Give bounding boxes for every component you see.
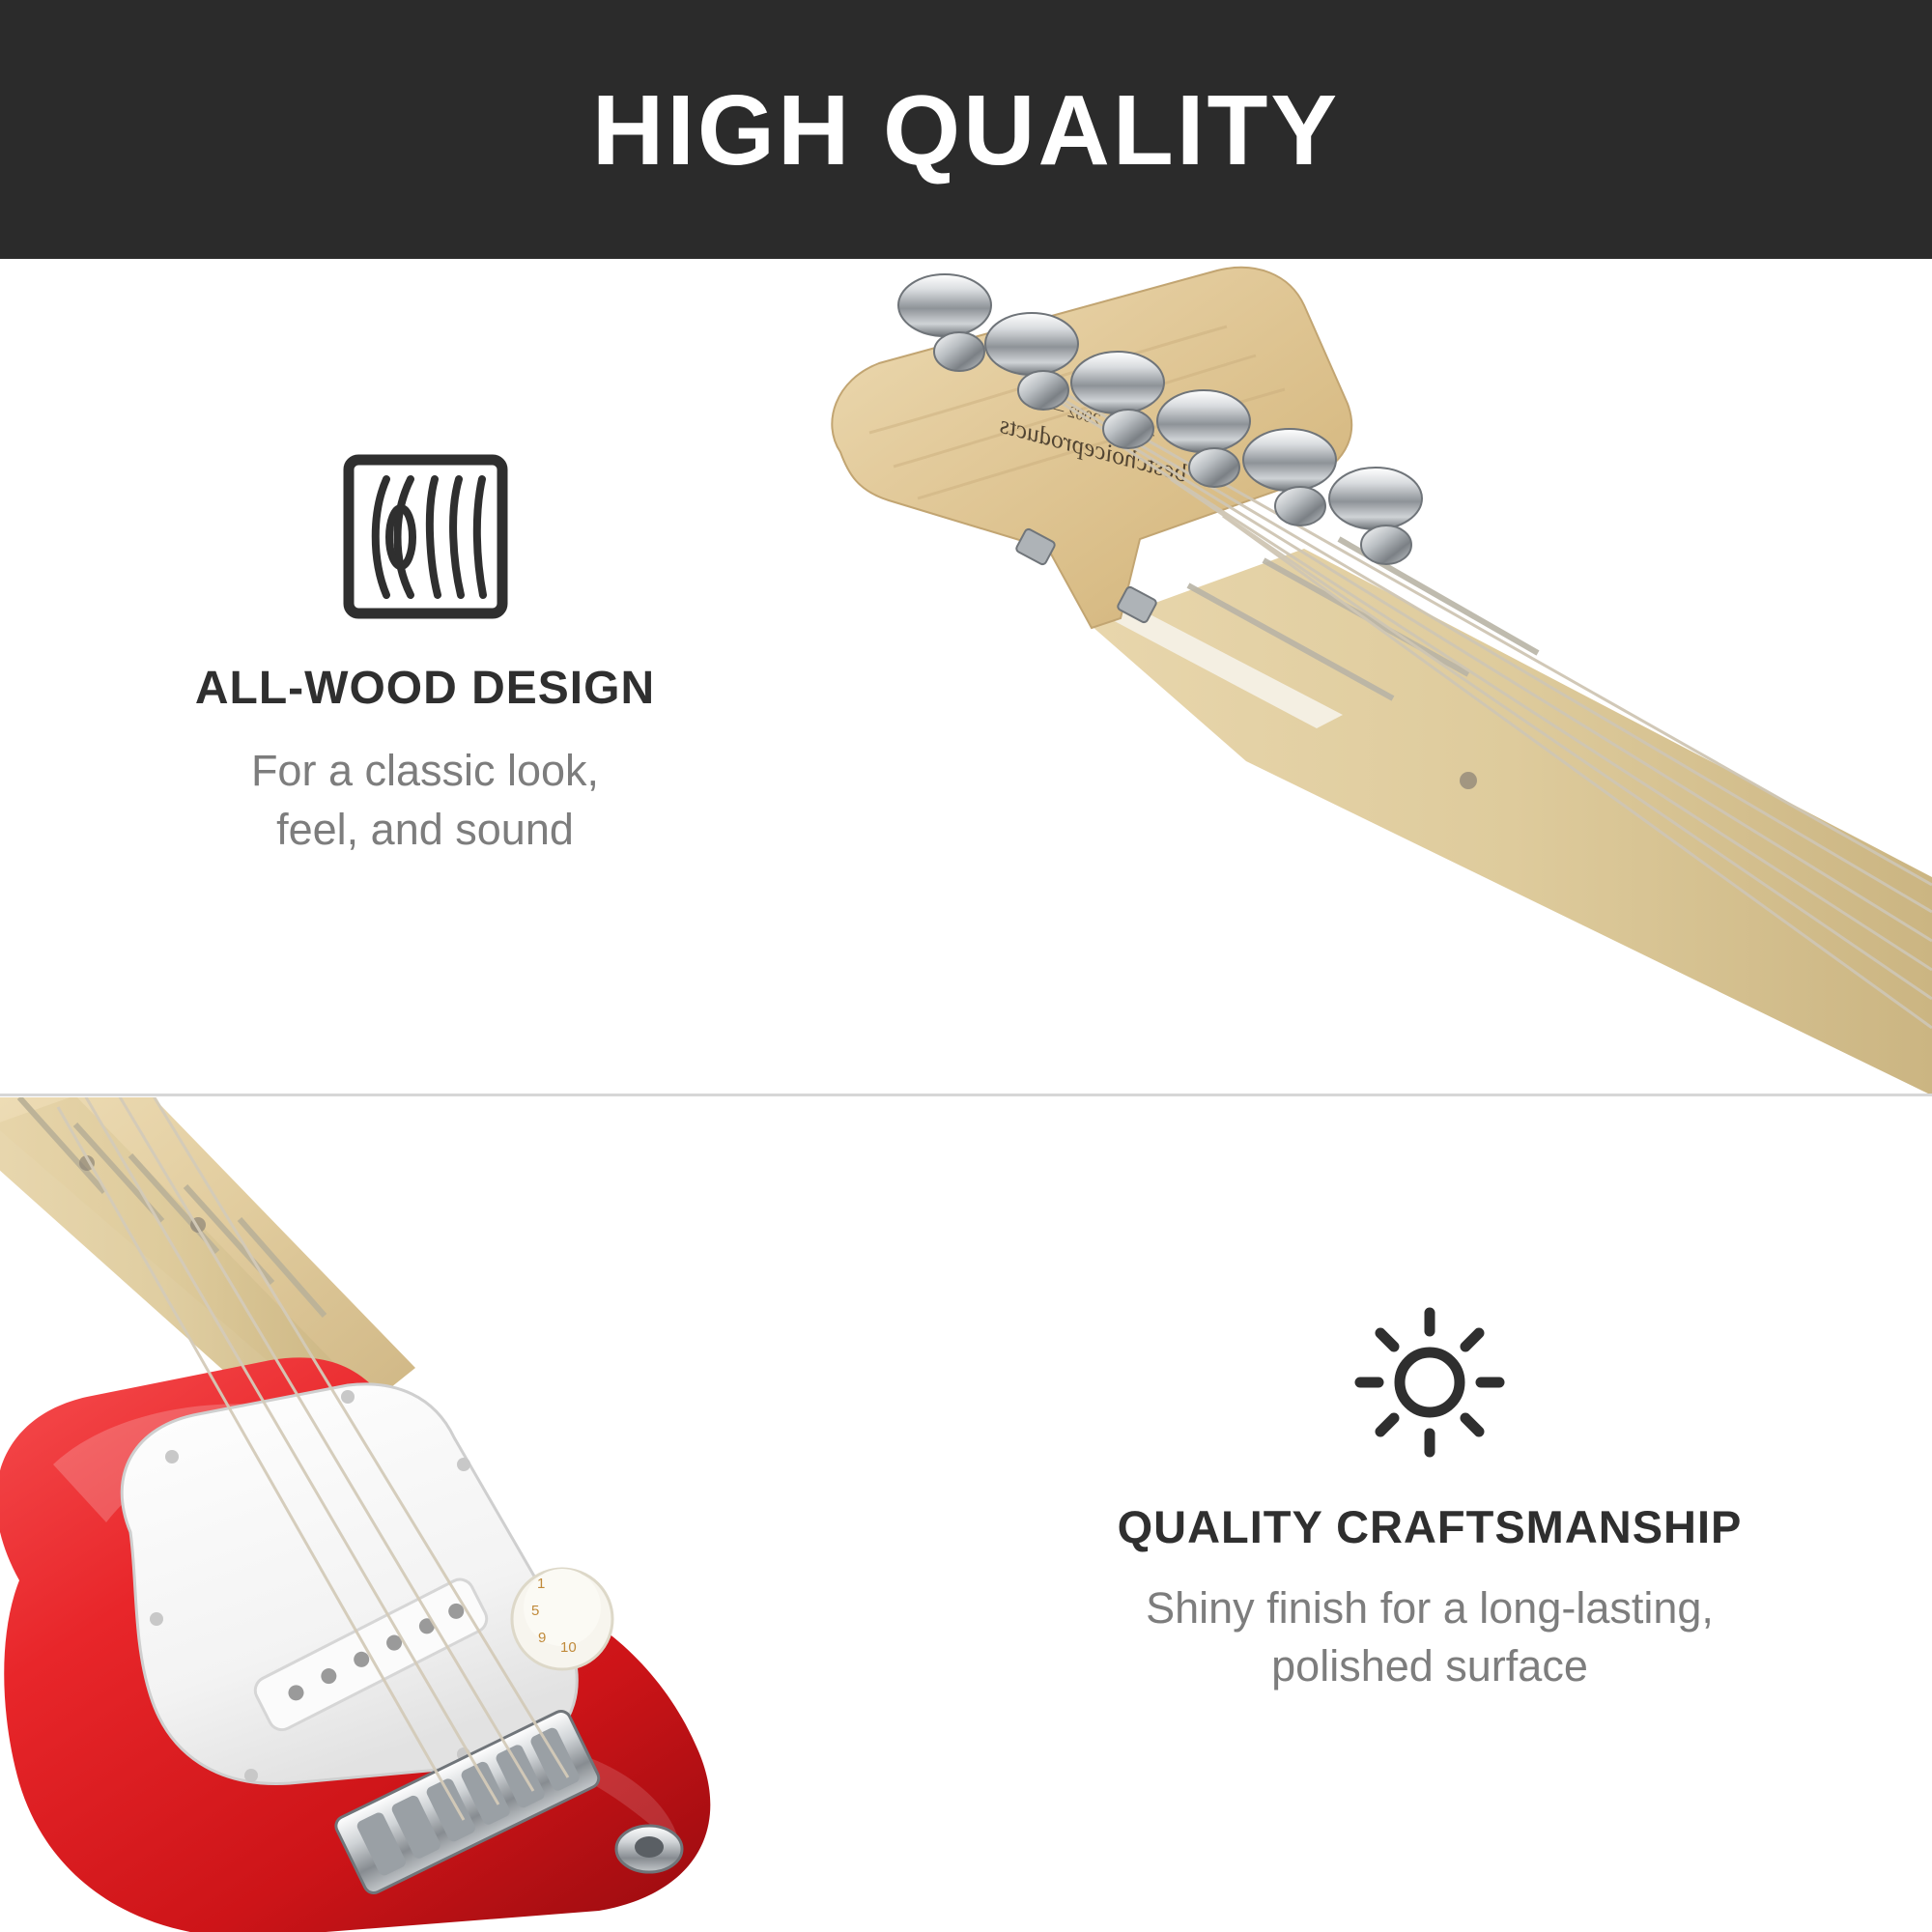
feature-description-line2: feel, and sound (251, 801, 599, 860)
guitar-headstock-image: bestchoiceproducts — EST. 2002 — (802, 259, 1932, 1095)
feature-title: QUALITY CRAFTSMANSHIP (1118, 1502, 1743, 1552)
page-title: HIGH QUALITY (592, 80, 1340, 180)
svg-text:1: 1 (537, 1576, 545, 1592)
feature-description: Shiny finish for a long-lasting, polishe… (1146, 1579, 1714, 1697)
svg-text:10: 10 (560, 1639, 577, 1656)
output-jack (616, 1826, 682, 1872)
panel-quality-craftsmanship: 1 5 9 10 (0, 1097, 1932, 1932)
feature-description-line1: Shiny finish for a long-lasting, (1146, 1579, 1714, 1638)
feature-quality-craftsmanship: QUALITY CRAFTSMANSHIP Shiny finish for a… (995, 1305, 1864, 1696)
feature-description-line2: polished surface (1146, 1637, 1714, 1696)
pickguard (122, 1384, 577, 1784)
fretboard (1092, 539, 1932, 1095)
svg-text:9: 9 (538, 1630, 546, 1646)
volume-knob: 1 5 9 10 (512, 1569, 612, 1669)
feature-all-wood-design: ALL-WOOD DESIGN For a classic look, feel… (87, 452, 763, 859)
svg-text:5: 5 (531, 1603, 539, 1619)
feature-description: For a classic look, feel, and sound (251, 742, 599, 860)
sun-shine-icon (1352, 1305, 1507, 1460)
feature-title: ALL-WOOD DESIGN (195, 664, 655, 715)
section-divider (0, 1094, 1932, 1096)
feature-description-line1: For a classic look, (251, 742, 599, 801)
guitar-body-image: 1 5 9 10 (0, 1097, 1043, 1932)
panel-all-wood-design: bestchoiceproducts — EST. 2002 — (0, 259, 1932, 1095)
header-banner: HIGH QUALITY (0, 0, 1932, 259)
wood-grain-icon (341, 452, 510, 621)
